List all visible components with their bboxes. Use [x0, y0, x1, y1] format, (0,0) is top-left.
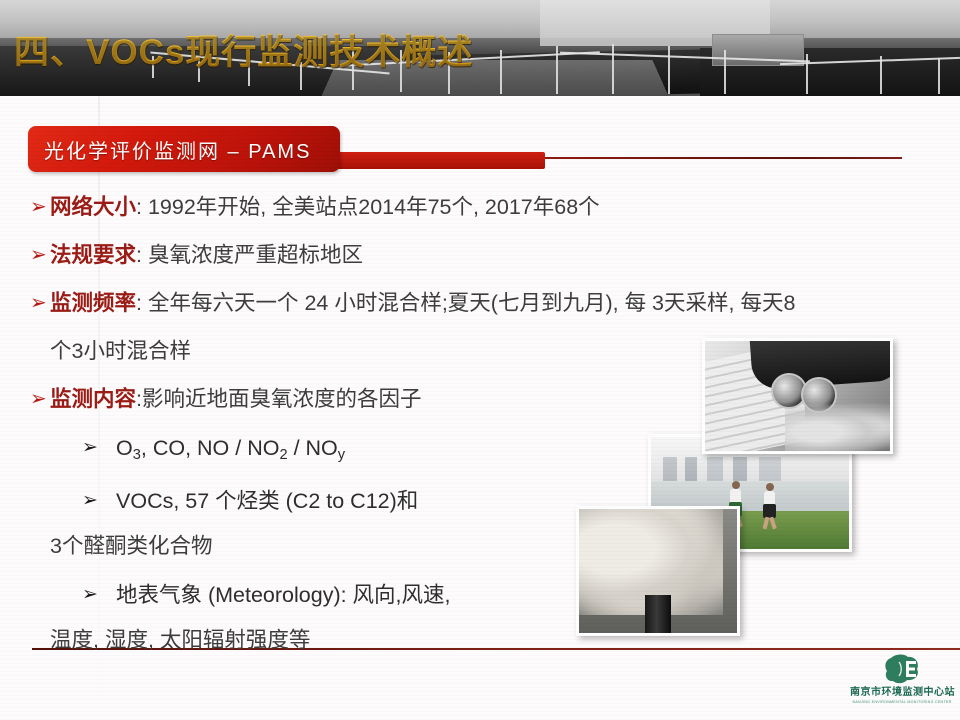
formula-subscript: 3: [133, 447, 141, 463]
header-railing-post: [668, 46, 670, 94]
sub-bullet-meteorology-continuation: 温度, 湿度, 太阳辐射强度等: [0, 619, 960, 661]
sub-bullet-vocs-text: VOCs, 57 个烃类 (C2 to C12)和: [116, 479, 418, 523]
sub-bullet-meteorology-text: 地表气象 (Meteorology): 风向,风速,: [116, 573, 451, 617]
header-railing-post: [556, 46, 558, 94]
bullet-monitoring-content: ➢ 监测内容:影响近地面臭氧浓度的各因子: [0, 378, 960, 420]
bullet-network-size: ➢ 网络大小: 1992年开始, 全美站点2014年75个, 2017年68个: [0, 186, 960, 228]
sub-bullet-vocs-continuation: 3个醛酮类化合物: [0, 525, 960, 567]
logo-name-en: NANJING ENVIRONMENTAL MONITORING CENTER: [850, 699, 954, 706]
bullet-value: 影响近地面臭氧浓度的各因子: [142, 387, 422, 411]
section-banner-rule: [545, 157, 902, 159]
bullet-regulatory-requirement: ➢ 法规要求: 臭氧浓度严重超标地区: [0, 234, 960, 276]
sub-bullet-vocs: ➢ VOCs, 57 个烃类 (C2 to C12)和: [0, 479, 960, 523]
arrow-subbullet-icon: ➢: [82, 573, 98, 617]
arrow-bullet-icon: ➢: [30, 186, 47, 228]
arrow-bullet-icon: ➢: [30, 282, 47, 324]
bullet-separator: :: [136, 291, 148, 315]
bullet-label: 监测内容: [50, 387, 136, 411]
formula-subscript: 2: [279, 447, 287, 463]
sub-bullet-gases-text: O3, CO, NO / NO2 / NOy: [116, 426, 345, 477]
header-railing-post: [612, 44, 614, 94]
page-title: 四、VOCs现行监测技术概述: [14, 24, 473, 75]
bullet-frequency-continuation: 个3小时混合样: [0, 330, 960, 372]
header-railing-post: [880, 56, 882, 94]
arrow-bullet-icon: ➢: [30, 234, 47, 276]
section-banner-label: 光化学评价监测网 – PAMS: [44, 135, 311, 164]
header-railing-post: [724, 50, 726, 94]
arrow-subbullet-icon: ➢: [82, 426, 98, 470]
logo-name-cn: 南京市环境监测中心站: [850, 686, 954, 699]
bullet-monitoring-frequency: ➢ 监测频率: 全年每六天一个 24 小时混合样;夏天(七月到九月), 每 3天…: [0, 282, 960, 324]
header-railing-post: [938, 58, 940, 94]
sub-bullet-gases: ➢ O3, CO, NO / NO2 / NOy: [0, 426, 960, 477]
section-banner: 光化学评价监测网 – PAMS: [0, 120, 960, 180]
sub-bullet-meteorology: ➢ 地表气象 (Meteorology): 风向,风速,: [0, 573, 960, 617]
header-railing-post: [806, 54, 808, 94]
formula-text: , CO, NO / NO: [141, 436, 280, 460]
bullet-separator: :: [136, 195, 148, 219]
bullet-label: 监测频率: [50, 291, 136, 315]
bullet-separator: :: [136, 243, 148, 267]
formula-text: O: [116, 436, 133, 460]
leaf-e-logo-icon: [850, 652, 954, 686]
arrow-bullet-icon: ➢: [30, 378, 47, 420]
organization-logo: 南京市环境监测中心站 NANJING ENVIRONMENTAL MONITOR…: [850, 652, 954, 714]
bullet-value: 全年每六天一个 24 小时混合样;夏天(七月到九月), 每 3天采样, 每天8: [148, 291, 795, 315]
formula-subscript: y: [338, 447, 345, 463]
arrow-subbullet-icon: ➢: [82, 479, 98, 523]
section-banner-chip: 光化学评价监测网 – PAMS: [28, 126, 340, 172]
formula-text: / NO: [288, 436, 338, 460]
bullet-label: 网络大小: [50, 195, 136, 219]
slide-body: ➢ 网络大小: 1992年开始, 全美站点2014年75个, 2017年68个 …: [0, 186, 960, 656]
slide-canvas: 四、VOCs现行监测技术概述 四、VOCs现行监测技术概述 光化学评价监测网 –…: [0, 0, 960, 720]
bullet-value: 臭氧浓度严重超标地区: [148, 243, 363, 267]
bullet-value: 1992年开始, 全美站点2014年75个, 2017年68个: [148, 195, 600, 219]
header-railing-post: [500, 50, 502, 94]
bullet-label: 法规要求: [50, 243, 136, 267]
